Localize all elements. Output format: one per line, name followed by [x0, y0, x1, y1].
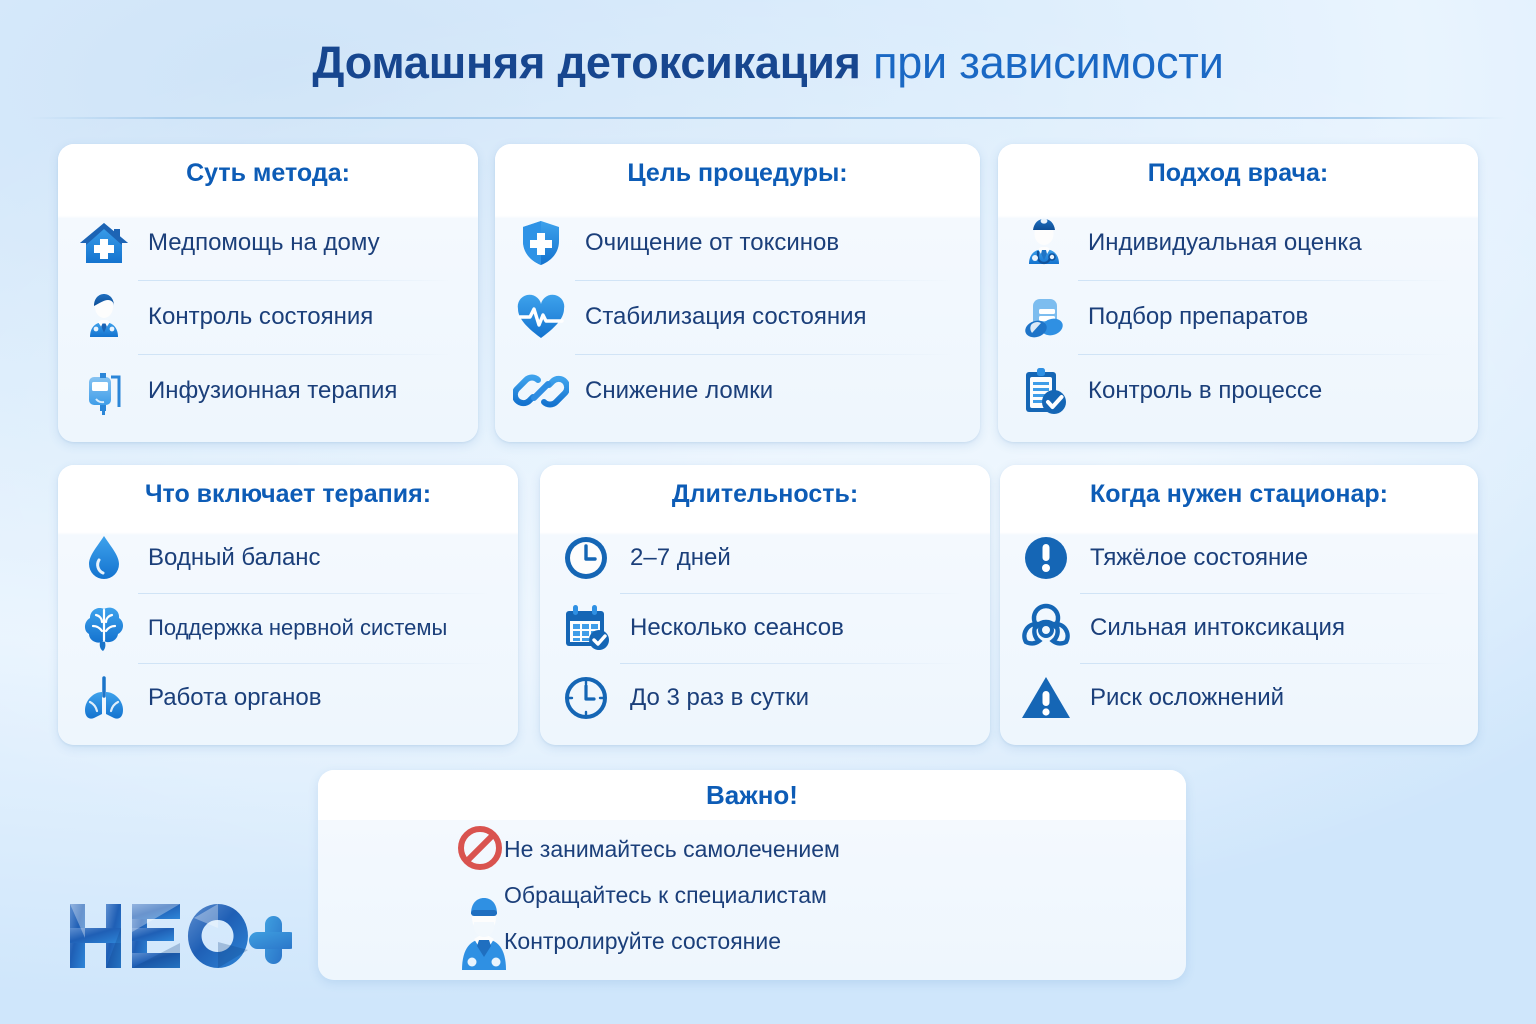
card-header: Суть метода: — [58, 144, 478, 202]
card-kogda-nuzhen-statsionar: Когда нужен стационар: Тяжёлое состояние — [1000, 465, 1478, 745]
list-item-label: Поддержка нервной системы — [148, 615, 447, 641]
list-item[interactable]: Поддержка нервной системы — [76, 593, 498, 663]
card-sut-metoda: Суть метода: Медпомощь на дому — [58, 144, 478, 442]
chain-link-icon — [513, 363, 569, 419]
list-item-label: Медпомощь на дому — [148, 229, 380, 257]
list-item[interactable]: Контроль состояния — [76, 280, 458, 354]
important-item[interactable]: Не занимайтесь самолечением — [318, 826, 1186, 872]
important-rows: Не занимайтесь самолечением Обращайтесь … — [318, 820, 1186, 964]
shield-cross-icon — [513, 215, 569, 271]
list-item[interactable]: Водный баланс — [76, 523, 498, 593]
list-item-label: Инфузионная терапия — [148, 377, 397, 405]
list-item[interactable]: До 3 раз в сутки — [558, 663, 970, 733]
card-title: Длительность: — [672, 480, 858, 509]
card-header: Цель процедуры: — [495, 144, 980, 202]
list-item-label: Работа органов — [148, 684, 321, 712]
card-header: Длительность: — [540, 465, 990, 523]
list-item[interactable]: Сильная интоксикация — [1018, 593, 1458, 663]
warning-triangle-icon — [1018, 670, 1074, 726]
page-title: Домашняя детоксикация при зависимости — [0, 38, 1536, 88]
list-item-label: Контроль состояния — [148, 303, 373, 331]
list-item[interactable]: Инфузионная терапия — [76, 354, 458, 428]
list-item-label: Сильная интоксикация — [1090, 614, 1345, 642]
important-item[interactable]: Обращайтесь к специалистам — [318, 872, 1186, 918]
card-header: Что включает терапия: — [58, 465, 518, 523]
exclamation-circle-icon — [1018, 530, 1074, 586]
card-title: Подход врача: — [1148, 159, 1328, 188]
card-title: Цель процедуры: — [627, 159, 847, 188]
card-body: Медпомощь на дому Контроль состояния — [58, 202, 478, 436]
brain-icon — [76, 600, 132, 656]
clock-filled-icon — [558, 530, 614, 586]
important-item-label: Обращайтесь к специалистам — [504, 882, 827, 909]
card-body: Водный баланс Поддержка нервной системы — [58, 523, 518, 741]
page-title-light: при зависимости — [873, 37, 1224, 88]
list-item[interactable]: Очищение от токсинов — [513, 206, 960, 280]
important-panel: Важно! — [318, 770, 1186, 980]
list-item-label: Подбор препаратов — [1088, 303, 1308, 331]
list-item-label: Риск осложнений — [1090, 684, 1284, 712]
card-body: Индивидуальная оценка Подбор препаратов — [998, 202, 1478, 436]
important-item-label: Контролируйте состояние — [504, 928, 781, 955]
important-title: Важно! — [706, 780, 798, 811]
card-podhod-vracha: Подход врача: Индивидуальная оценка — [998, 144, 1478, 442]
calendar-check-icon — [558, 600, 614, 656]
clipboard-check-icon — [1016, 363, 1072, 419]
water-drop-icon — [76, 530, 132, 586]
important-item[interactable]: Контролируйте состояние — [318, 918, 1186, 964]
prohibition-icon — [461, 829, 499, 867]
logo-neo-plus — [70, 898, 292, 976]
heart-pulse-icon — [513, 289, 569, 345]
list-item[interactable]: Контроль в процессе — [1016, 354, 1458, 428]
surgeon-figure-icon — [462, 898, 506, 970]
list-item-label: До 3 раз в сутки — [630, 684, 809, 712]
list-item-label: Очищение от токсинов — [585, 229, 839, 257]
list-item[interactable]: 2–7 дней — [558, 523, 970, 593]
lungs-icon — [76, 670, 132, 726]
list-item-label: Контроль в процессе — [1088, 377, 1322, 405]
list-item[interactable]: Несколько сеансов — [558, 593, 970, 663]
card-header: Когда нужен стационар: — [1000, 465, 1478, 523]
page-title-strong: Домашняя детоксикация — [312, 37, 860, 88]
list-item[interactable]: Медпомощь на дому — [76, 206, 458, 280]
list-item-label: Стабилизация состояния — [585, 303, 866, 331]
card-title: Когда нужен стационар: — [1090, 480, 1388, 509]
card-body: Очищение от токсинов Стабилизация состоя… — [495, 202, 980, 436]
card-body: 2–7 дней Несколько сеанс — [540, 523, 990, 741]
card-title: Что включает терапия: — [145, 480, 431, 509]
card-cel-procedury: Цель процедуры: Очищение от токсинов Ста… — [495, 144, 980, 442]
list-item[interactable]: Риск осложнений — [1018, 663, 1458, 733]
card-title: Суть метода: — [186, 159, 350, 188]
card-header: Подход врача: — [998, 144, 1478, 202]
iv-drip-icon — [76, 363, 132, 419]
list-item-label: Снижение ломки — [585, 377, 773, 405]
list-item-label: 2–7 дней — [630, 544, 731, 572]
important-header: Важно! — [318, 770, 1186, 820]
important-item-label: Не занимайтесь самолечением — [504, 836, 840, 863]
list-item[interactable]: Подбор препаратов — [1016, 280, 1458, 354]
card-body: Тяжёлое состояние Сильная интоксикация — [1000, 523, 1478, 741]
list-item[interactable]: Индивидуальная оценка — [1016, 206, 1458, 280]
list-item-label: Несколько сеансов — [630, 614, 844, 642]
doctor-stethoscope-icon — [1016, 215, 1072, 271]
list-item-label: Водный баланс — [148, 544, 321, 572]
card-dlitelnost: Длительность: 2–7 дней — [540, 465, 990, 745]
important-icon-group — [450, 822, 510, 972]
clock-outline-icon — [558, 670, 614, 726]
pills-medicine-icon — [1016, 289, 1072, 345]
plus-icon — [249, 916, 292, 964]
title-divider — [30, 117, 1506, 119]
card-chto-vklyuchaet-terapiya: Что включает терапия: Водный баланс — [58, 465, 518, 745]
list-item[interactable]: Стабилизация состояния — [513, 280, 960, 354]
list-item-label: Индивидуальная оценка — [1088, 229, 1362, 257]
home-medical-icon — [76, 215, 132, 271]
biohazard-icon — [1018, 600, 1074, 656]
list-item[interactable]: Работа органов — [76, 663, 498, 733]
doctor-person-icon — [76, 289, 132, 345]
list-item[interactable]: Снижение ломки — [513, 354, 960, 428]
list-item-label: Тяжёлое состояние — [1090, 544, 1308, 572]
list-item[interactable]: Тяжёлое состояние — [1018, 523, 1458, 593]
